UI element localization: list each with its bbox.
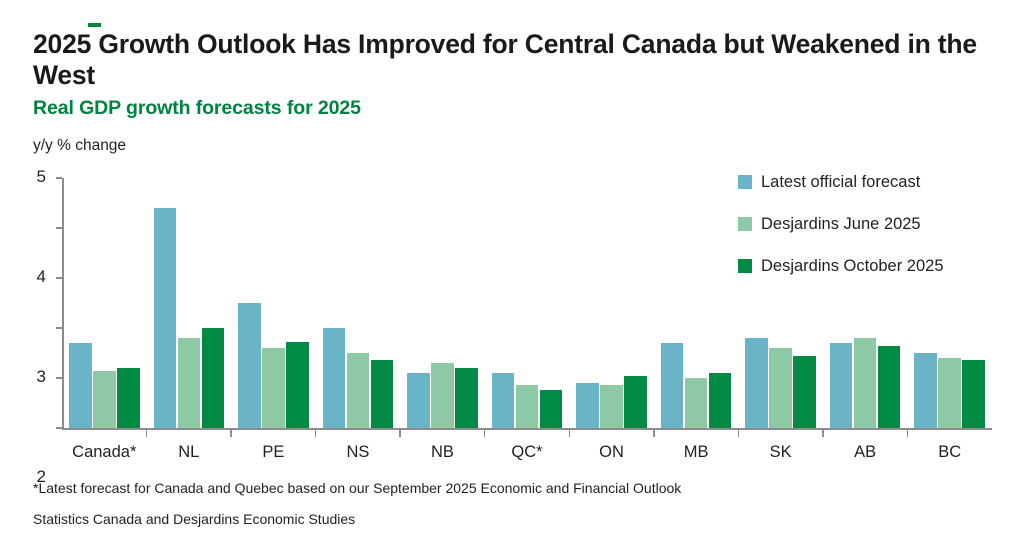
brand-mark-icon	[88, 23, 101, 27]
bar	[371, 360, 394, 428]
x-axis-category-label: MB	[684, 443, 709, 462]
x-axis-category-label: AB	[854, 443, 876, 462]
y-axis-tick-mark: 3	[56, 277, 62, 279]
y-axis-tick-mark: 2	[56, 327, 62, 329]
bar	[238, 303, 261, 428]
bar	[830, 343, 853, 428]
footnote-text: Statistics Canada and Desjardins Economi…	[33, 511, 973, 527]
bar	[455, 368, 478, 428]
x-axis-category-label: BC	[938, 443, 961, 462]
legend-swatch-icon	[738, 217, 752, 231]
bar	[854, 338, 877, 428]
x-axis-group-separator	[315, 428, 317, 437]
y-axis-tick-mark: 4	[56, 227, 62, 229]
x-axis-group-separator	[484, 428, 486, 437]
x-axis-group-separator	[569, 428, 571, 437]
legend-item[interactable]: Desjardins October 2025	[738, 256, 944, 276]
bar	[878, 346, 901, 429]
bar	[914, 353, 937, 428]
chart-subtitle: Real GDP growth forecasts for 2025	[33, 97, 361, 120]
x-axis-category-label: NB	[431, 443, 454, 462]
x-axis-group-separator	[822, 428, 824, 437]
x-axis-group-separator	[653, 428, 655, 437]
bar	[286, 342, 309, 429]
x-axis-group-separator	[738, 428, 740, 437]
x-axis-category-label: PE	[262, 443, 284, 462]
page-title: 2025 Growth Outlook Has Improved for Cen…	[33, 29, 983, 91]
bar	[154, 208, 177, 428]
bar	[769, 348, 792, 428]
bar	[431, 363, 454, 428]
bar	[745, 338, 768, 428]
bar	[576, 383, 599, 428]
y-axis-tick-label: 3	[37, 367, 46, 387]
legend-item[interactable]: Desjardins June 2025	[738, 214, 944, 234]
bar	[709, 373, 732, 428]
bar	[624, 376, 647, 429]
legend-label: Desjardins June 2025	[761, 215, 921, 234]
bar	[661, 343, 684, 428]
x-axis-category-label: Canada*	[72, 443, 136, 462]
bar	[492, 373, 515, 428]
bar	[793, 356, 816, 429]
x-axis-category-label: SK	[770, 443, 792, 462]
bar	[323, 328, 346, 428]
bar	[347, 353, 370, 428]
y-axis-unit-label: y/y % change	[33, 137, 126, 155]
y-axis-tick-label: 5	[37, 167, 46, 187]
y-axis-tick-mark: 5	[56, 177, 62, 179]
footnotes: *Latest forecast for Canada and Quebec b…	[33, 480, 973, 542]
x-axis-group-separator	[399, 428, 401, 437]
bar	[407, 373, 430, 428]
bar	[178, 338, 201, 428]
x-axis-group-separator	[230, 428, 232, 437]
y-axis-line	[62, 178, 64, 428]
legend-label: Desjardins October 2025	[761, 257, 944, 276]
bar	[117, 368, 140, 428]
bar	[516, 385, 539, 429]
legend-swatch-icon	[738, 259, 752, 273]
y-axis-tick-mark: 1	[56, 377, 62, 379]
y-axis-tick-mark: 0	[56, 427, 62, 429]
x-axis-category-label: QC*	[511, 443, 542, 462]
x-axis-category-label: NL	[178, 443, 199, 462]
bar	[202, 328, 225, 428]
legend-item[interactable]: Latest official forecast	[738, 172, 944, 192]
chart-legend: Latest official forecastDesjardins June …	[738, 172, 944, 298]
bar	[69, 343, 92, 428]
bar	[962, 360, 985, 429]
x-axis-category-label: NS	[346, 443, 369, 462]
x-axis-category-label: ON	[599, 443, 624, 462]
bar	[93, 371, 116, 429]
x-axis-group-separator	[146, 428, 148, 437]
bar	[685, 378, 708, 428]
legend-swatch-icon	[738, 175, 752, 189]
y-axis-tick-label: 4	[37, 267, 46, 287]
footnote-text: *Latest forecast for Canada and Quebec b…	[33, 480, 973, 496]
bar	[600, 385, 623, 429]
bar	[262, 348, 285, 428]
x-axis-group-separator	[907, 428, 909, 437]
legend-label: Latest official forecast	[761, 173, 920, 192]
x-axis-line	[62, 428, 992, 430]
bar	[938, 358, 961, 428]
chart-page: 2025 Growth Outlook Has Improved for Cen…	[0, 0, 1024, 544]
bar	[540, 390, 563, 429]
